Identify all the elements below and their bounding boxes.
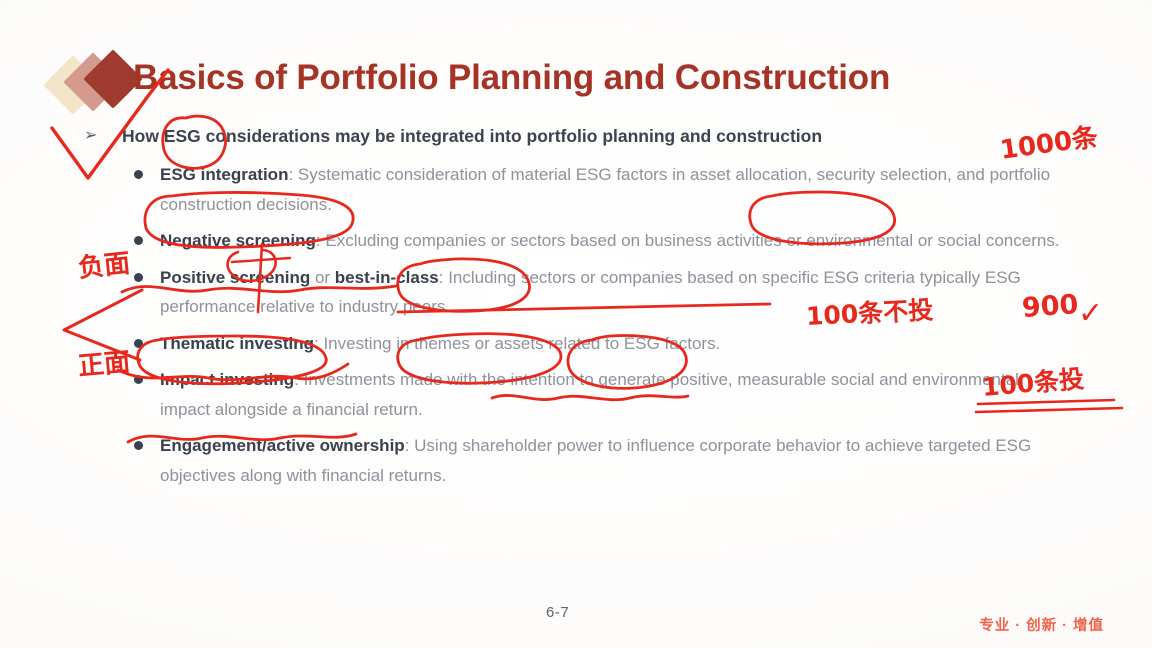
bullet-dot-icon [134,273,143,282]
bullet-separator: : [405,436,414,455]
annotation-fu-mian: 负面 [76,243,132,285]
bullet-term: Engagement/active ownership [160,436,405,455]
bullet-separator: : [294,370,303,389]
list-item: Thematic investing: Investing in themes … [130,329,1065,359]
list-item: Impact investing: Investments made with … [130,365,1065,424]
bullet-dot-icon [134,236,143,245]
bullet-term: ESG integration [160,165,288,184]
bullet-dot-icon [134,170,143,179]
page-number: 6-7 [546,604,569,621]
annotation-zheng-mian: 正面 [76,342,131,383]
bullet-dot-icon [134,339,143,348]
main-point-text: How ESG considerations may be integrated… [122,126,822,146]
annotation-900: 900 [1021,289,1079,324]
slide-canvas: Basics of Portfolio Planning and Constru… [0,0,1152,648]
bullet-term-alt: best-in-class [335,268,439,287]
bullet-text: Investing in themes or assets related to… [323,334,720,353]
bullet-text: Excluding companies or sectors based on … [325,231,1059,250]
annotation-100-bu-tou: 100条不投 [805,290,934,333]
slide-title: Basics of Portfolio Planning and Constru… [133,58,890,98]
list-item: Engagement/active ownership: Using share… [130,431,1065,490]
bullet-term: Thematic investing [160,334,314,353]
bullet-dot-icon [134,375,143,384]
bullet-separator: : [288,165,297,184]
bullet-separator-alt: : [439,268,448,287]
list-item: Negative screening: Excluding companies … [130,226,1065,256]
main-point: ➢ How ESG considerations may be integrat… [80,118,1012,154]
arrow-bullet-icon: ➢ [84,118,97,154]
bullet-term: Impact investing [160,370,294,389]
bullet-term: Positive screening [160,268,310,287]
brand-tagline: 专业 · 创新 · 增值 [979,614,1104,635]
bullet-separator: : [316,231,325,250]
bullet-term: Negative screening [160,231,316,250]
annotation-check-900: ✓ [1078,296,1103,331]
bullet-separator: or [310,268,335,287]
bullet-dot-icon [134,441,143,450]
list-item: ESG integration: Systematic consideratio… [130,160,1065,219]
